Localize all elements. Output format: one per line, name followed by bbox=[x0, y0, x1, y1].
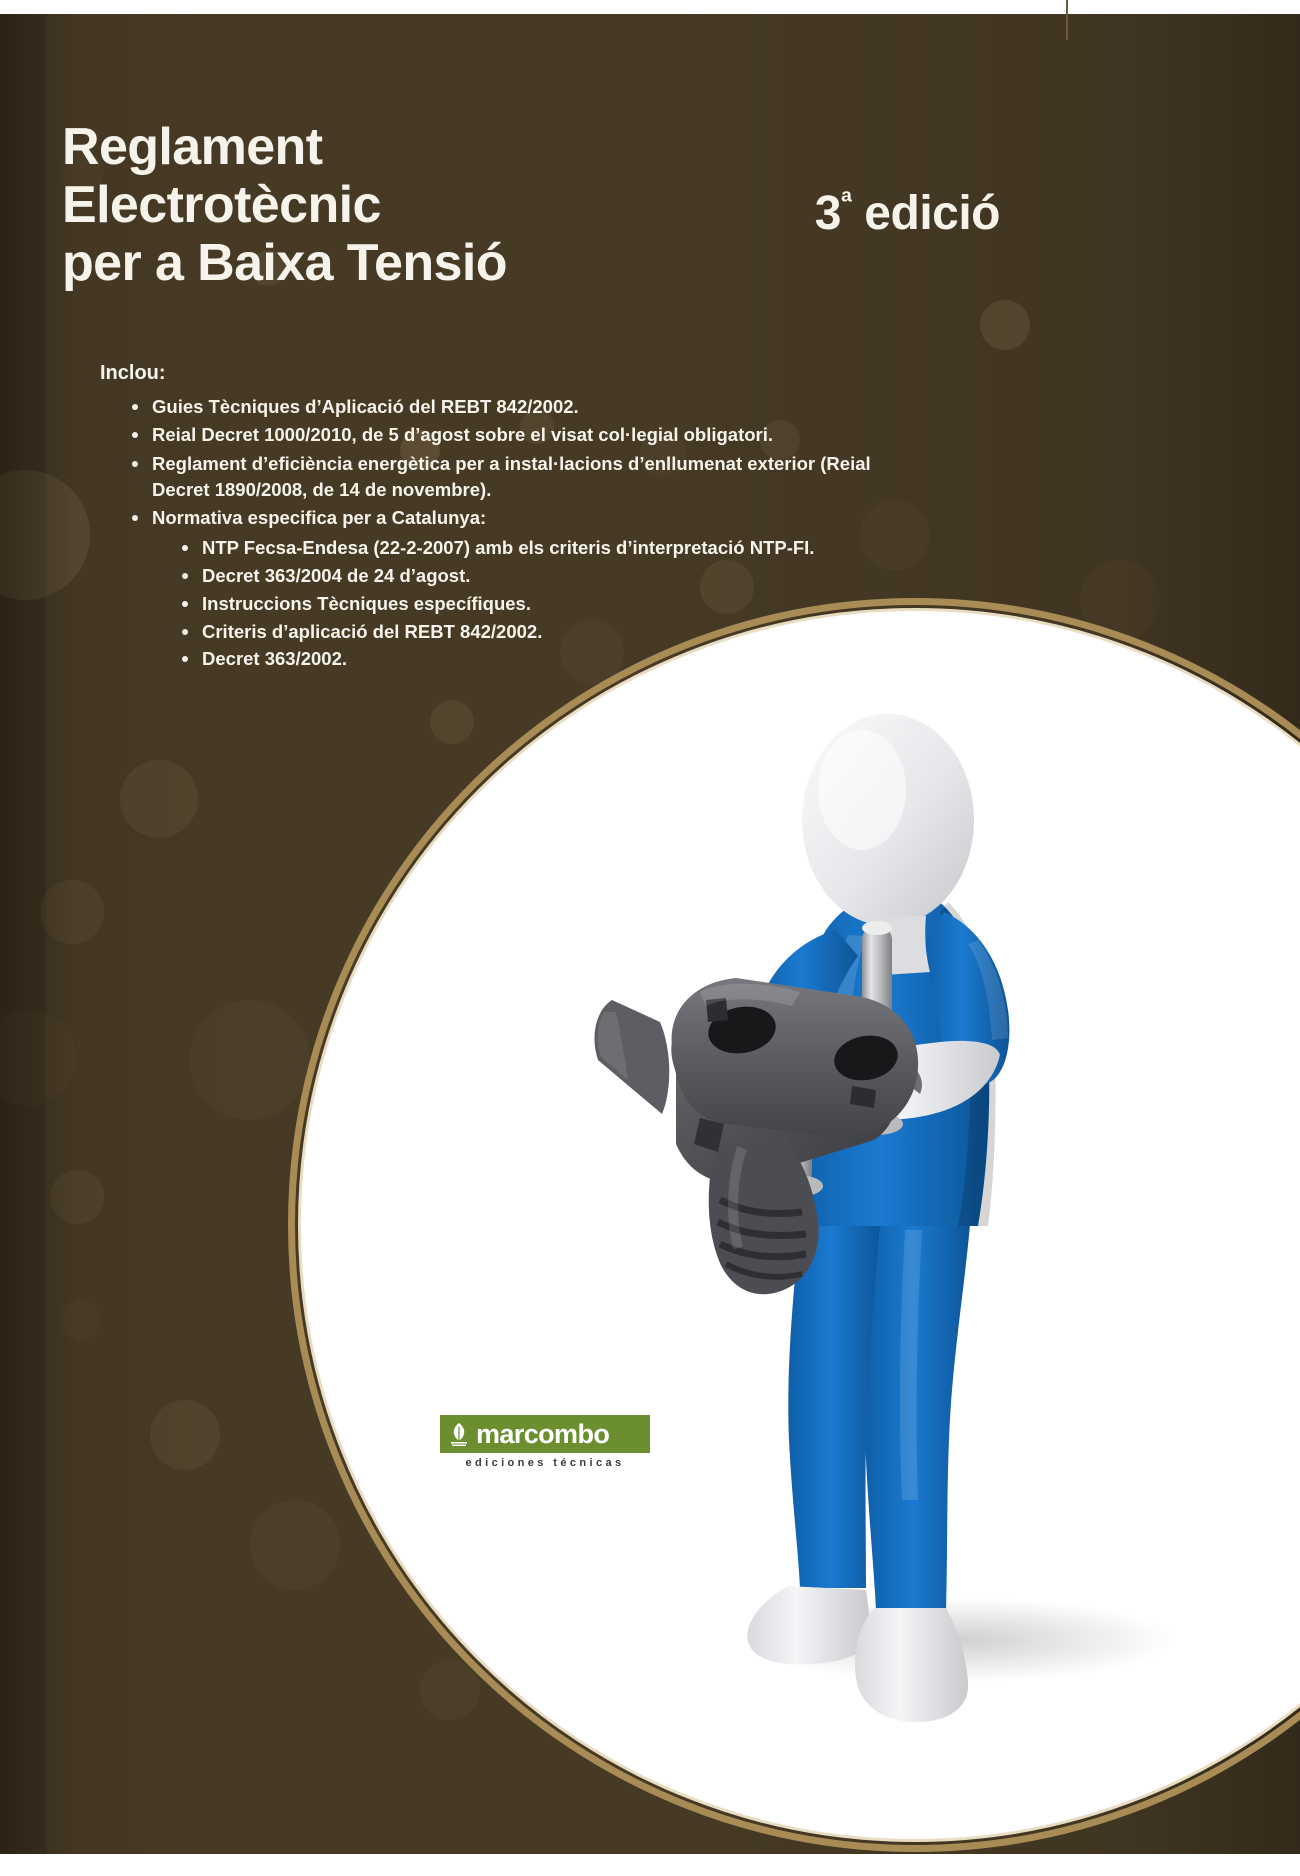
sub-list-item-text: Decret 363/2002. bbox=[202, 648, 347, 669]
edition-ordinal: ª bbox=[841, 186, 852, 219]
sub-list-item: Decret 363/2002. bbox=[180, 645, 930, 673]
list-item: Guies Tècniques d’Aplicació del REBT 842… bbox=[130, 394, 930, 420]
catalunya-sublist: NTP Fecsa-Endesa (22-2-2007) amb els cri… bbox=[152, 534, 930, 673]
cover-bottom-edge bbox=[0, 1854, 1300, 1876]
sub-list-item-text: Criteris d’aplicació del REBT 842/2002. bbox=[202, 621, 542, 642]
list-item: Reial Decret 1000/2010, de 5 d’agost sob… bbox=[130, 422, 930, 448]
sub-list-item-text: NTP Fecsa-Endesa (22-2-2007) amb els cri… bbox=[202, 537, 814, 558]
sub-list-item: Decret 363/2004 de 24 d’agost. bbox=[180, 562, 930, 590]
publisher-logo: marcombo ediciones técnicas bbox=[440, 1415, 650, 1469]
list-item-text: Guies Tècniques d’Aplicació del REBT 842… bbox=[152, 396, 579, 417]
publisher-tagline: ediciones técnicas bbox=[440, 1457, 650, 1469]
list-item-text: Reial Decret 1000/2010, de 5 d’agost sob… bbox=[152, 424, 773, 445]
publisher-logo-bar: marcombo bbox=[440, 1415, 650, 1453]
sub-list-item: NTP Fecsa-Endesa (22-2-2007) amb els cri… bbox=[180, 534, 930, 562]
list-item-text: Reglament d’eficiència energètica per a … bbox=[152, 453, 871, 500]
publisher-name: marcombo bbox=[476, 1421, 609, 1448]
book-cover: Reglament Electrotècnic per a Baixa Tens… bbox=[0, 0, 1300, 1876]
edition-word: edició bbox=[864, 187, 1000, 240]
edition-number: 3 bbox=[815, 187, 841, 240]
list-item: Reglament d’eficiència energètica per a … bbox=[130, 451, 930, 504]
includes-heading: Inclou: bbox=[100, 362, 930, 385]
edition-label: 3ª edició bbox=[0, 186, 1000, 241]
sub-list-item-text: Decret 363/2004 de 24 d’agost. bbox=[202, 565, 470, 586]
sub-list-item: Criteris d’aplicació del REBT 842/2002. bbox=[180, 618, 930, 646]
title-line-1: Reglament bbox=[62, 118, 762, 176]
marcombo-leaf-icon bbox=[446, 1419, 472, 1449]
includes-section: Inclou: Guies Tècniques d’Aplicació del … bbox=[100, 362, 930, 675]
title-line-3: per a Baixa Tensió bbox=[62, 234, 762, 292]
sub-list-item-text: Instruccions Tècniques específiques. bbox=[202, 593, 531, 614]
includes-list: Guies Tècniques d’Aplicació del REBT 842… bbox=[100, 394, 930, 673]
list-item-text: Normativa especifica per a Catalunya: bbox=[152, 507, 486, 528]
sub-list-item: Instruccions Tècniques específiques. bbox=[180, 590, 930, 618]
list-item: Normativa especifica per a Catalunya: NT… bbox=[130, 505, 930, 673]
